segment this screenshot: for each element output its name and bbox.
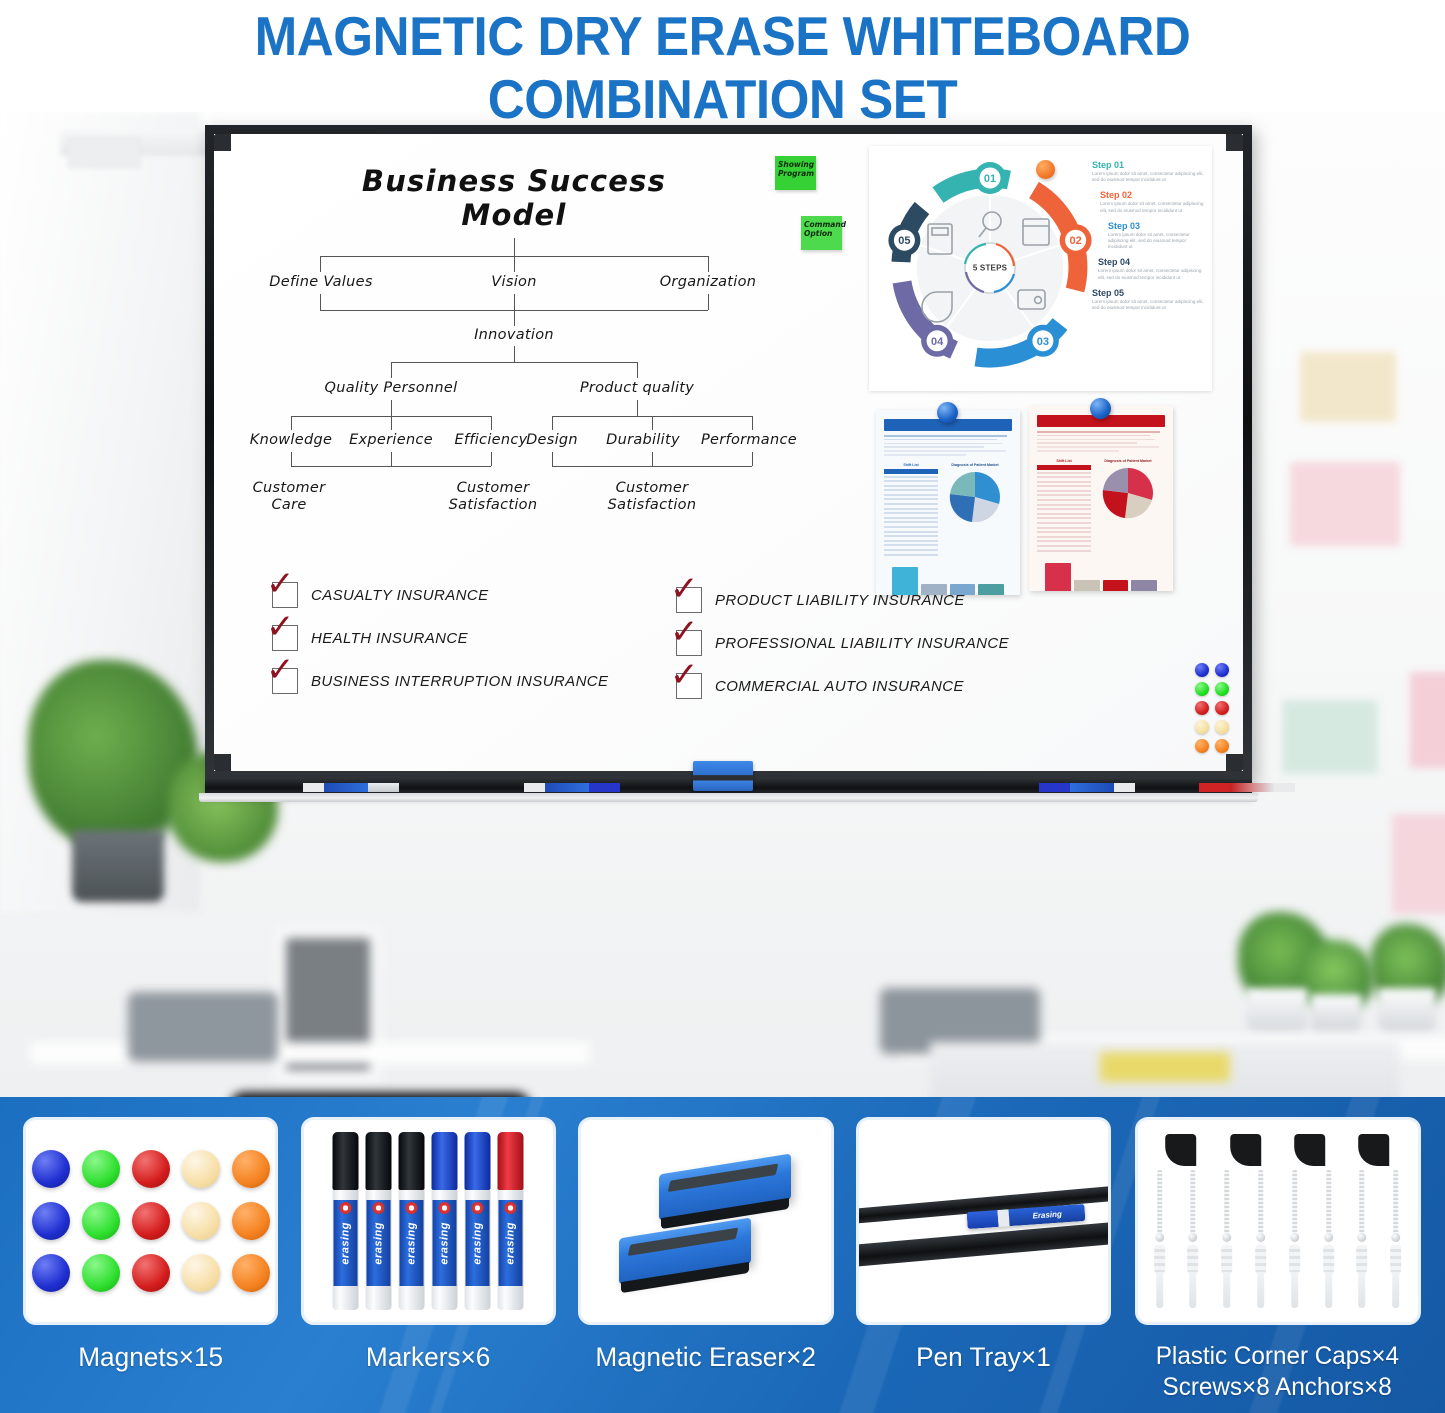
poster-table-header: [1037, 465, 1091, 470]
business-success-model-diagram: Business Success Model Define Values Vis…: [234, 142, 794, 562]
step-item: Step 04 Lorem ipsum dolor sit amet, cons…: [1098, 257, 1204, 280]
wall-note-yellow-1: [1300, 352, 1396, 422]
accessory-pen-tray: Erasing Pen Tray×1: [845, 1117, 1123, 1413]
tree-node-innovation: Innovation: [466, 327, 562, 344]
wall-note-mint-1: [1282, 700, 1378, 774]
checklist-item[interactable]: ✓ COMMERCIAL AUTO INSURANCE: [676, 673, 964, 699]
wall-anchor: [1255, 1245, 1266, 1308]
tree-line: [552, 452, 553, 466]
screw: [1222, 1170, 1231, 1242]
marker-barrel: erasing: [399, 1190, 425, 1310]
screw: [1391, 1170, 1400, 1242]
marker-brand-text: erasing: [505, 1222, 517, 1265]
pen-tray-lip: [199, 793, 1258, 802]
screw: [1256, 1170, 1265, 1242]
wall-anchor: [1188, 1245, 1199, 1308]
checklist-label: CASUALTY INSURANCE: [311, 587, 489, 604]
magnet-cream: [182, 1254, 220, 1292]
magnetic-eraser-1: [659, 1154, 791, 1221]
corner-cap-bottom-left: [214, 754, 231, 771]
brand-dot-icon: [505, 1202, 517, 1214]
tree-line: [391, 400, 392, 416]
tray-marker-3[interactable]: [1039, 783, 1135, 792]
step-title: Step 01: [1092, 160, 1204, 171]
accessory-eraser: Magnetic Eraser×2: [567, 1117, 845, 1413]
tree-node-customer-satisfaction-right: Customer Satisfaction: [597, 480, 707, 514]
magnet-red: [132, 1150, 170, 1188]
board-magnet-blue[interactable]: [1195, 663, 1209, 677]
brand-dot-icon: [373, 1202, 385, 1214]
magnet-orange: [232, 1254, 270, 1292]
marker-body: [1039, 783, 1070, 792]
marker-cap: [1274, 783, 1295, 792]
screw: [1358, 1170, 1367, 1242]
whiteboard-surface[interactable]: Business Success Model Define Values Vis…: [214, 134, 1243, 771]
marker-barrel: erasing: [498, 1190, 524, 1310]
board-magnet-yellow[interactable]: [1215, 720, 1229, 734]
marker-brand-label: erasing: [433, 1200, 457, 1286]
brand-dot-icon: [472, 1202, 484, 1214]
pen-brand-text: Erasing: [1032, 1210, 1062, 1221]
accessory-label-magnets: Magnets×15: [78, 1342, 223, 1373]
title-line-1: MAGNETIC DRY ERASE WHITEBOARD: [51, 0, 1395, 68]
marker-blue: erasing: [432, 1132, 458, 1310]
desk-left: [30, 1042, 590, 1064]
wall-anchor: [1289, 1245, 1300, 1308]
marker-cap: [432, 1132, 458, 1190]
tree-node-quality-personnel: Quality Personnel: [311, 380, 471, 397]
poster-magnet-blue-right[interactable]: [1090, 398, 1111, 419]
wall-anchor: [1221, 1245, 1232, 1308]
tree-line: [491, 416, 492, 430]
step-item: Step 02 Lorem ipsum dolor sit amet, cons…: [1100, 190, 1204, 213]
tree-line: [320, 294, 321, 310]
plant-right-pot-2: [1310, 994, 1362, 1032]
tree-line: [491, 452, 492, 466]
poster-data-table: Shift List: [1037, 459, 1091, 555]
board-magnet-red[interactable]: [1215, 701, 1229, 715]
tree-line: [291, 452, 292, 466]
tray-marker-2[interactable]: [524, 783, 620, 792]
checkbox[interactable]: ✓: [272, 582, 298, 608]
marker-brand-label: erasing: [367, 1200, 391, 1286]
accessory-card: [1135, 1117, 1421, 1325]
tree-line: [514, 346, 515, 362]
tree-node-durability: Durability: [596, 432, 690, 449]
checkbox[interactable]: ✓: [272, 625, 298, 651]
marker-body: [368, 783, 399, 792]
marker-label: [324, 783, 368, 792]
svg-text:02: 02: [1069, 235, 1081, 247]
tree-line: [652, 416, 653, 430]
marker-label: [545, 783, 589, 792]
tree-line: [291, 416, 292, 430]
hub-label: 5 STEPS: [973, 264, 1007, 273]
accessory-label-eraser: Magnetic Eraser×2: [596, 1342, 817, 1373]
tree-line: [652, 452, 653, 466]
sticky-note-command-option[interactable]: Command Option: [801, 216, 842, 250]
marker-cap: [465, 1132, 491, 1190]
tree-line: [708, 256, 709, 272]
marker-brand-text: erasing: [439, 1222, 451, 1265]
board-magnet-orange[interactable]: [1215, 739, 1229, 753]
poster-middle: Shift List Diagnosis of Patient Mark: [1029, 455, 1173, 555]
marker-brand-label: erasing: [334, 1200, 358, 1286]
step-text: Lorem ipsum dolor sit amet, consectetur …: [1092, 299, 1204, 311]
poster-pie-chart: Diagnosis of Patient Market: [944, 463, 1006, 559]
marker-barrel: erasing: [333, 1190, 359, 1310]
report-poster-red[interactable]: Shift List Diagnosis of Patient Mark: [1029, 406, 1173, 591]
checklist-item[interactable]: ✓ PROFESSIONAL LIABILITY INSURANCE: [676, 630, 1009, 656]
marker-cap: [498, 1132, 524, 1190]
board-magnet-green[interactable]: [1215, 682, 1229, 696]
poster-bar-chart: [1029, 559, 1173, 591]
step-title: Step 05: [1092, 288, 1204, 299]
marker-label: [1230, 783, 1274, 792]
step-text: Lorem ipsum dolor sit amet, consectetur …: [1098, 268, 1204, 280]
anchors-row: [1149, 1245, 1407, 1308]
tree-line: [391, 362, 392, 378]
step-title: Step 03: [1108, 221, 1204, 232]
title-line-2: COMBINATION SET: [51, 68, 1395, 131]
accessory-card: [578, 1117, 833, 1325]
marker-brand-label: erasing: [499, 1200, 523, 1286]
whiteboard[interactable]: Business Success Model Define Values Vis…: [205, 125, 1252, 893]
marker-brand-label: erasing: [400, 1200, 424, 1286]
board-magnet-red[interactable]: [1195, 701, 1209, 715]
accessory-label-hardware-line-1: Plastic Corner Caps×4: [1156, 1342, 1399, 1371]
tree-line: [637, 400, 638, 416]
checklist-label: PRODUCT LIABILITY INSURANCE: [715, 592, 965, 609]
tray-marker-1[interactable]: [303, 783, 399, 792]
accessory-magnets: Magnets×15: [12, 1117, 290, 1413]
svg-text:04: 04: [931, 336, 944, 348]
svg-text:01: 01: [984, 173, 996, 185]
tree-line: [752, 452, 753, 466]
wall-anchor: [1323, 1245, 1334, 1308]
checklist-label: PROFESSIONAL LIABILITY INSURANCE: [715, 635, 1009, 652]
step-item: Step 03 Lorem ipsum dolor sit amet, cons…: [1108, 221, 1204, 251]
pie-svg: [944, 469, 1006, 525]
board-magnet-grid[interactable]: [1195, 663, 1229, 753]
wall-anchor: [1357, 1245, 1368, 1308]
marker-red: erasing: [498, 1132, 524, 1310]
checkbox[interactable]: ✓: [272, 668, 298, 694]
wall-anchor: [1154, 1245, 1165, 1308]
poster-table-caption: Shift List: [884, 463, 938, 467]
tree-line: [391, 452, 392, 466]
wall-note-pink-2: [1410, 672, 1445, 768]
check-icon: ✓: [670, 617, 704, 647]
pen-tray[interactable]: [199, 775, 1258, 805]
poster-table-header: [884, 469, 938, 474]
check-icon: ✓: [670, 660, 704, 690]
accessory-card: Erasing: [856, 1117, 1111, 1325]
check-icon: ✓: [670, 574, 704, 604]
checklist-label: BUSINESS INTERRUPTION INSURANCE: [311, 673, 608, 690]
step-text: Lorem ipsum dolor sit amet, consectetur …: [1100, 201, 1204, 213]
plant-right-pot-1: [1246, 988, 1308, 1032]
magnet-grid: [32, 1150, 270, 1292]
accessories-panel: Magnets×15 erasing erasing: [0, 1097, 1445, 1413]
magnet-cream: [182, 1150, 220, 1188]
tree-line: [514, 238, 515, 256]
pie-svg: [1097, 465, 1159, 521]
wall-note-pink-3: [1392, 814, 1445, 914]
report-poster-blue[interactable]: Shift List Diagnosis of Patient Mark: [876, 410, 1020, 595]
marker-brand-text: erasing: [340, 1222, 352, 1265]
accessory-card: [23, 1117, 278, 1325]
corner-cap-top-left: [214, 134, 231, 151]
marker-label: [1070, 783, 1114, 792]
tree-node-customer-care: Customer Care: [246, 480, 332, 514]
poster-paragraph: [1037, 431, 1165, 452]
marker-cap: [303, 783, 324, 792]
tree-line: [708, 294, 709, 310]
accessory-hardware: Plastic Corner Caps×4 Screws×8 Anchors×8: [1122, 1117, 1433, 1413]
tree-line: [752, 416, 753, 430]
poster-pie-chart: Diagnosis of Patient Market: [1097, 459, 1159, 555]
corner-cap-piece: [1359, 1134, 1390, 1166]
tree-node-knowledge: Knowledge: [244, 432, 338, 449]
accessory-label-markers: Markers×6: [366, 1342, 490, 1373]
marker-barrel: erasing: [432, 1190, 458, 1310]
insurance-checklist: ✓ CASUALTY INSURANCE ✓ HEALTH INSURANCE …: [232, 582, 1012, 722]
rail-clip: [68, 138, 140, 168]
tree-line: [637, 362, 638, 378]
step-title: Step 02: [1100, 190, 1204, 201]
wall-anchor: [1390, 1245, 1401, 1308]
plant-right-pot-3: [1378, 988, 1436, 1032]
tree-node-experience: Experience: [342, 432, 440, 449]
marker-brand-label: erasing: [466, 1200, 490, 1286]
board-magnet-green[interactable]: [1195, 682, 1209, 696]
board-magnet-blue[interactable]: [1215, 663, 1229, 677]
cabinet-yellow-accent: [1100, 1052, 1230, 1082]
screw: [1189, 1170, 1198, 1242]
tree-line: [320, 256, 321, 272]
checklist-item[interactable]: ✓ CASUALTY INSURANCE: [272, 582, 489, 608]
marker-cap: [524, 783, 545, 792]
marker-cap: [1114, 783, 1135, 792]
tree-title-line-2: Model: [234, 198, 794, 232]
tree-line: [552, 416, 553, 430]
tree-line: [391, 416, 392, 430]
tree-node-define-values: Define Values: [260, 274, 382, 291]
checklist-item[interactable]: ✓ PRODUCT LIABILITY INSURANCE: [676, 587, 965, 613]
tree-line: [291, 466, 491, 467]
tree-line: [552, 466, 752, 467]
checklist-item[interactable]: ✓ HEALTH INSURANCE: [272, 625, 468, 651]
step-item: Step 05 Lorem ipsum dolor sit amet, cons…: [1092, 288, 1204, 311]
check-icon: ✓: [266, 655, 300, 685]
pen-collar: [997, 1209, 1010, 1227]
tree-title-line-1: Business Success: [234, 164, 794, 198]
poster-middle: Shift List Diagnosis of Patient Mark: [876, 459, 1020, 559]
magnet-orange: [232, 1150, 270, 1188]
wall-note-pink-1: [1290, 462, 1400, 546]
corner-cap-piece: [1294, 1134, 1325, 1166]
magnet-red: [132, 1254, 170, 1292]
hardware-grid: [1149, 1134, 1407, 1308]
checkbox[interactable]: ✓: [676, 673, 702, 699]
tree-line: [514, 256, 515, 272]
marker-blue: erasing: [465, 1132, 491, 1310]
tree-line: [391, 362, 637, 363]
poster-pie-caption: Diagnosis of Patient Market: [1097, 459, 1159, 463]
marker-body: [589, 783, 620, 792]
poster-table-caption: Shift List: [1037, 459, 1091, 463]
marker-brand-text: erasing: [406, 1222, 418, 1265]
magnet-blue: [32, 1254, 70, 1292]
poster-paragraph: [884, 435, 1012, 456]
checkbox[interactable]: ✓: [676, 587, 702, 613]
magnet-green: [82, 1254, 120, 1292]
magnet-red: [132, 1202, 170, 1240]
magnet-blue: [32, 1202, 70, 1240]
magnet-green: [82, 1150, 120, 1188]
cycle-ring-diagram: 01 02 03 04: [879, 152, 1101, 384]
step-title: Step 04: [1098, 257, 1204, 268]
screws-row: [1149, 1170, 1407, 1242]
brand-dot-icon: [406, 1202, 418, 1214]
corner-cap-top-right: [1226, 134, 1243, 151]
magnetic-eraser-2: [619, 1218, 751, 1285]
brand-dot-icon: [439, 1202, 451, 1214]
tray-eraser[interactable]: [693, 761, 753, 791]
poster-magnet-blue-left[interactable]: [937, 402, 958, 423]
accessory-markers: erasing erasing erasing: [290, 1117, 568, 1413]
corner-cap-bottom-right: [1226, 754, 1243, 771]
svg-text:03: 03: [1037, 336, 1049, 348]
marker-brand-text: erasing: [373, 1222, 385, 1265]
accessory-card: erasing erasing erasing: [301, 1117, 556, 1325]
board-magnet-orange[interactable]: [1195, 739, 1209, 753]
step-list: Step 01 Lorem ipsum dolor sit amet, cons…: [1092, 160, 1204, 318]
step-item: Step 01 Lorem ipsum dolor sit amet, cons…: [1092, 160, 1204, 183]
whiteboard-frame: Business Success Model Define Values Vis…: [205, 125, 1252, 780]
chair-back-left: [128, 992, 278, 1062]
checkbox[interactable]: ✓: [676, 630, 702, 656]
corner-cap-piece: [1166, 1134, 1197, 1166]
tree-line: [514, 294, 515, 326]
poster-data-table: Shift List: [884, 463, 938, 559]
accessory-label-hardware-line-2: Screws×8 Anchors×8: [1163, 1373, 1392, 1402]
board-magnet-yellow[interactable]: [1195, 720, 1209, 734]
marker-brand-text: erasing: [472, 1222, 484, 1265]
marker-black: erasing: [366, 1132, 392, 1310]
marker-row: erasing erasing erasing: [333, 1132, 524, 1310]
tree-node-product-quality: Product quality: [562, 380, 712, 397]
step-text: Lorem ipsum dolor sit amet, consectetur …: [1092, 171, 1204, 183]
marker-cap: [399, 1132, 425, 1190]
check-icon: ✓: [266, 612, 300, 642]
magnet-green: [82, 1202, 120, 1240]
screw: [1290, 1170, 1299, 1242]
tray-marker-4[interactable]: [1199, 783, 1295, 792]
step-text: Lorem ipsum dolor sit amet, consectetur …: [1108, 232, 1204, 251]
corner-cap-piece: [1230, 1134, 1261, 1166]
magnet-orange: [232, 1202, 270, 1240]
tree-node-organization: Organization: [646, 274, 770, 291]
screw: [1324, 1170, 1333, 1242]
tree-node-design: Design: [516, 432, 588, 449]
tree-node-performance: Performance: [694, 432, 804, 449]
pen-cap: [966, 1210, 998, 1229]
marker-cap: [366, 1132, 392, 1190]
marker-black: erasing: [399, 1132, 425, 1310]
poster-pie-caption: Diagnosis of Patient Market: [944, 463, 1006, 467]
tree-node-vision: Vision: [466, 274, 562, 291]
brand-dot-icon: [340, 1202, 352, 1214]
svg-text:05: 05: [898, 235, 910, 247]
five-steps-infographic-poster[interactable]: 01 02 03 04: [869, 146, 1212, 391]
product-title: MAGNETIC DRY ERASE WHITEBOARD COMBINATIO…: [0, 0, 1445, 132]
marker-cap: [333, 1132, 359, 1190]
screw: [1155, 1170, 1164, 1242]
magnet-blue: [32, 1150, 70, 1188]
accessory-label-pen-tray: Pen Tray×1: [916, 1342, 1051, 1373]
marker-body: [1199, 783, 1230, 792]
checklist-label: COMMERCIAL AUTO INSURANCE: [715, 678, 964, 695]
marker-black: erasing: [333, 1132, 359, 1310]
check-icon: ✓: [266, 569, 300, 599]
checklist-label: HEALTH INSURANCE: [311, 630, 468, 647]
marker-barrel: erasing: [366, 1190, 392, 1310]
magnet-cream: [182, 1202, 220, 1240]
plant-left-pot: [72, 830, 164, 902]
corner-caps-row: [1149, 1134, 1407, 1166]
tree-node-customer-satisfaction-left: Customer Satisfaction: [438, 480, 548, 514]
sticky-note-showing-program[interactable]: Showing Program: [775, 156, 816, 190]
checklist-item[interactable]: ✓ BUSINESS INTERRUPTION INSURANCE: [272, 668, 608, 694]
marker-barrel: erasing: [465, 1190, 491, 1310]
